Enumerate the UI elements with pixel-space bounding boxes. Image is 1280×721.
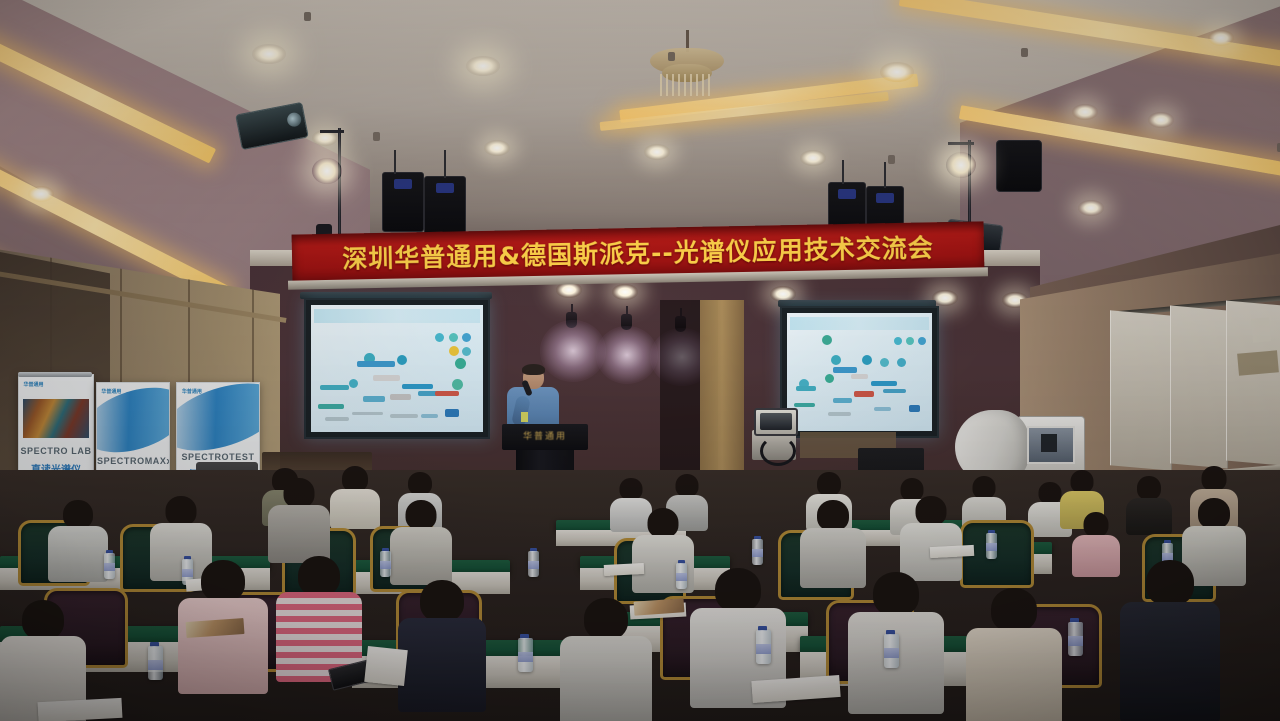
notepad[interactable] — [364, 646, 408, 686]
slide-header-band — [314, 309, 479, 323]
speaker-hanger — [394, 150, 396, 174]
ceiling-downlight — [800, 150, 826, 166]
benchtop-analyzer — [752, 408, 798, 458]
attendee — [48, 500, 108, 580]
ceiling-downlight — [612, 284, 638, 300]
ceiling-downlight — [1148, 112, 1174, 128]
ceiling-downlight — [1072, 104, 1098, 120]
rollup-brand-label: 华普通用 — [23, 381, 43, 388]
attendee — [268, 478, 330, 562]
attendee — [390, 500, 452, 582]
light-stand-boom — [948, 142, 974, 145]
sprinkler-head — [888, 155, 895, 164]
attendee — [276, 556, 362, 676]
wall-light-pool — [596, 326, 658, 384]
attendee — [330, 466, 380, 526]
handout-paper[interactable] — [930, 545, 975, 558]
ceiling-downlight — [880, 62, 914, 82]
speaker-hanger — [884, 162, 886, 188]
ceiling-speaker — [424, 176, 466, 238]
ceiling-downlight — [1078, 200, 1104, 216]
rollup-top-rail — [18, 372, 92, 377]
attendee — [900, 496, 962, 580]
wall-panel — [1251, 317, 1271, 342]
spotlight-glow — [946, 152, 976, 178]
attendee — [1120, 560, 1220, 720]
event-banner-text: 深圳华普通用&德国斯派克--光谱仪应用技术交流会 — [342, 228, 934, 275]
speaker-hanger — [444, 150, 446, 178]
speaker-hanger — [842, 160, 844, 184]
right-screen-slide — [787, 313, 932, 431]
ceiling-downlight — [252, 44, 286, 64]
wall-notice — [1237, 350, 1279, 375]
analyzer-cable — [760, 436, 796, 466]
left-screen-slide — [311, 305, 483, 432]
window-blind[interactable] — [1170, 305, 1228, 468]
ceiling-downlight — [1208, 30, 1234, 46]
attendee — [1126, 476, 1172, 532]
rollup-title: SPECTROMAXx — [97, 456, 169, 466]
slide-header-band — [790, 317, 929, 330]
ceiling-downlight — [28, 186, 54, 202]
light-stand-boom — [320, 130, 344, 133]
left-projection-screen — [304, 298, 490, 439]
podium-sign-text: 华普通用 — [502, 429, 588, 442]
rollup-title: SPECTRO LAB — [19, 446, 93, 456]
wall-speaker — [996, 140, 1042, 192]
sprinkler-head — [304, 12, 311, 21]
conference-hall-photo: 深圳华普通用&德国斯派克--光谱仪应用技术交流会 — [0, 0, 1280, 721]
rollup-photo — [23, 399, 88, 438]
rollup-title: SPECTROTEST — [177, 452, 259, 462]
attendee — [966, 588, 1062, 721]
sprinkler-head — [373, 132, 380, 141]
ceiling-downlight — [644, 144, 670, 160]
ceiling-downlight — [484, 140, 510, 156]
handout-paper[interactable] — [38, 698, 123, 721]
crystal-chandelier — [650, 48, 724, 94]
spotlight-glow — [312, 158, 342, 184]
attendee — [398, 580, 486, 706]
sprinkler-head — [668, 52, 675, 61]
name-badge — [521, 412, 528, 422]
spectrometer-window — [1027, 426, 1075, 464]
window-blind[interactable] — [1110, 310, 1172, 470]
ceiling-speaker — [382, 172, 424, 232]
attendee — [1072, 512, 1120, 574]
right-projection-screen — [780, 306, 939, 438]
wood-wall-panel — [700, 300, 744, 480]
analyzer-display — [754, 408, 798, 436]
ceiling-downlight — [466, 56, 500, 76]
sprinkler-head — [1021, 48, 1028, 57]
handout-paper[interactable] — [604, 563, 645, 576]
